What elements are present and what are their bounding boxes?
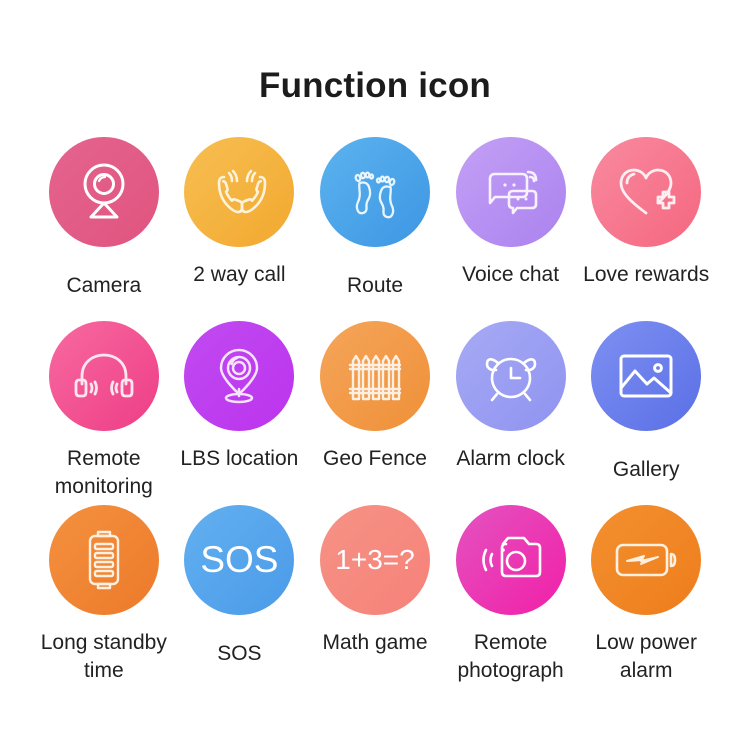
remote-monitoring-circle[interactable]	[49, 321, 159, 431]
grid-item-long-standby-time[interactable]: Long standby time	[36, 505, 172, 681]
item-label: Camera	[66, 272, 141, 300]
battery-vertical-icon	[81, 528, 127, 592]
grid-item-sos[interactable]: SOS SOS	[172, 505, 308, 681]
fence-icon	[345, 347, 405, 405]
item-label: Math game	[322, 629, 427, 657]
low-power-alarm-circle[interactable]	[591, 505, 701, 615]
two-way-call-circle[interactable]	[184, 137, 294, 247]
webcam-icon	[73, 161, 135, 223]
headphones-icon	[72, 348, 136, 404]
geo-fence-circle[interactable]	[320, 321, 430, 431]
item-label: Love rewards	[583, 261, 709, 289]
grid-item-lbs-location[interactable]: LBS location	[172, 321, 308, 497]
grid-item-math-game[interactable]: 1+3=? Math game	[307, 505, 443, 681]
item-label: Remote monitoring	[37, 445, 171, 501]
grid-item-alarm-clock[interactable]: Alarm clock	[443, 321, 579, 497]
item-label: Low power alarm	[579, 629, 713, 685]
camera-signal-icon	[479, 534, 543, 586]
sos-text-icon: SOS	[200, 539, 278, 581]
item-label: Voice chat	[462, 261, 559, 289]
grid-item-camera[interactable]: Camera	[36, 137, 172, 313]
item-label: Gallery	[613, 456, 680, 484]
camera-circle[interactable]	[49, 137, 159, 247]
route-circle[interactable]	[320, 137, 430, 247]
item-label: LBS location	[180, 445, 298, 473]
item-label: Geo Fence	[323, 445, 427, 473]
love-rewards-circle[interactable]	[591, 137, 701, 247]
grid-item-gallery[interactable]: Gallery	[578, 321, 714, 497]
item-label: 2 way call	[193, 261, 285, 289]
two-handset-call-icon	[207, 161, 271, 223]
image-icon	[617, 351, 675, 401]
footprints-icon	[344, 161, 406, 223]
battery-bolt-icon	[614, 539, 678, 581]
location-pin-icon	[210, 345, 268, 407]
math-game-circle[interactable]: 1+3=?	[320, 505, 430, 615]
grid-item-love-rewards[interactable]: Love rewards	[578, 137, 714, 313]
function-icon-board: Function icon Camera	[0, 0, 750, 750]
item-label: SOS	[217, 640, 261, 668]
sos-circle[interactable]: SOS	[184, 505, 294, 615]
icon-grid: Camera 2 way call	[0, 137, 750, 681]
long-standby-time-circle[interactable]	[49, 505, 159, 615]
lbs-location-circle[interactable]	[184, 321, 294, 431]
remote-photograph-circle[interactable]	[456, 505, 566, 615]
gallery-circle[interactable]	[591, 321, 701, 431]
item-label: Remote photograph	[444, 629, 578, 685]
alarm-clock-icon	[480, 345, 542, 407]
grid-item-low-power-alarm[interactable]: Low power alarm	[578, 505, 714, 681]
item-label: Long standby time	[37, 629, 171, 685]
page-title: Function icon	[0, 0, 750, 103]
grid-item-voice-chat[interactable]: Voice chat	[443, 137, 579, 313]
grid-item-remote-photograph[interactable]: Remote photograph	[443, 505, 579, 681]
alarm-clock-circle[interactable]	[456, 321, 566, 431]
grid-item-two-way-call[interactable]: 2 way call	[172, 137, 308, 313]
grid-item-geo-fence[interactable]: Geo Fence	[307, 321, 443, 497]
grid-item-remote-monitoring[interactable]: Remote monitoring	[36, 321, 172, 497]
chat-bubbles-icon	[479, 163, 543, 221]
heart-plus-icon	[615, 163, 677, 221]
math-equation-icon: 1+3=?	[335, 544, 414, 576]
voice-chat-circle[interactable]	[456, 137, 566, 247]
item-label: Alarm clock	[456, 445, 565, 473]
item-label: Route	[347, 272, 403, 300]
grid-item-route[interactable]: Route	[307, 137, 443, 313]
